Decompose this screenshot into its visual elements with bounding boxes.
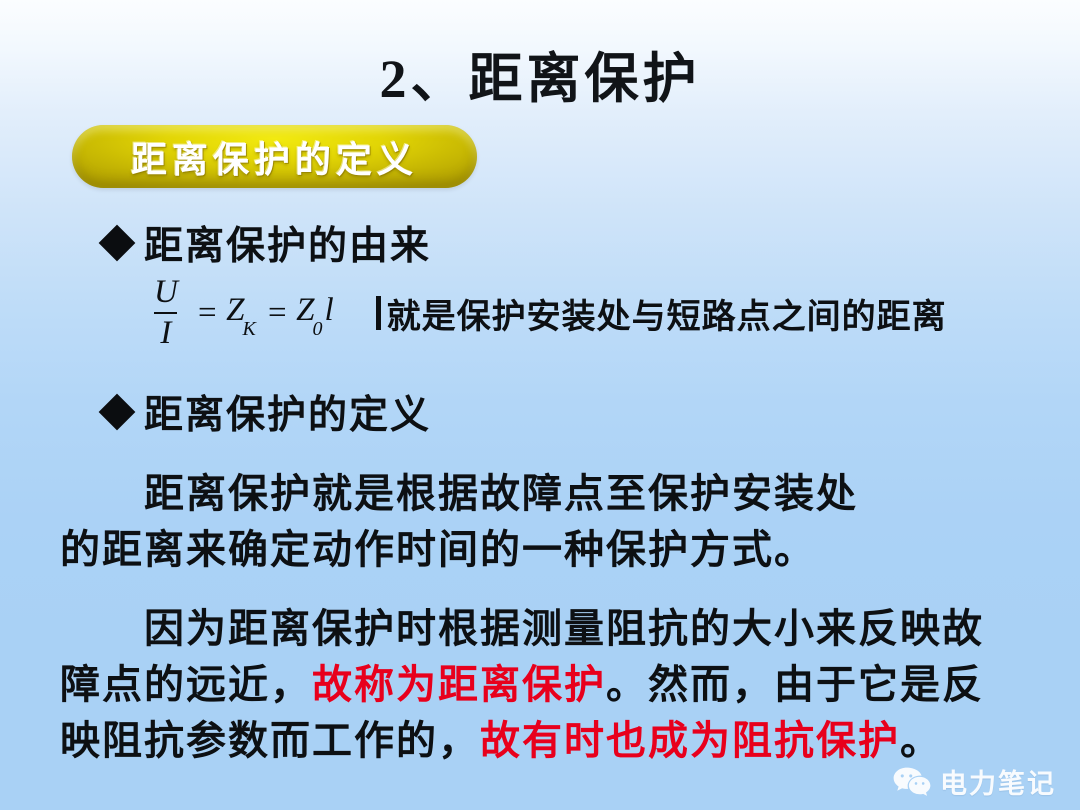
body-text: 。然而，由于它是反	[606, 663, 984, 707]
body-text: 映阻抗参数而工作的，	[60, 719, 480, 763]
body-text: 的距离来确定动作时间的一种保护方式。	[60, 528, 816, 572]
fraction-denominator: I	[154, 312, 177, 350]
watermark: 电力笔记	[892, 762, 1056, 801]
highlighted-text: 故有时也成为阻抗保护	[480, 719, 900, 763]
term-length-l: l	[324, 292, 333, 328]
body-text: 。	[900, 719, 942, 763]
bullet-heading-origin: 距离保护的由来	[104, 215, 431, 271]
formula-note-label: 就是保护安装处与短路点之间的距离	[387, 289, 947, 338]
body-text: 障点的远近，	[60, 663, 312, 707]
diamond-icon	[99, 394, 136, 431]
fraction-numerator: U	[148, 276, 184, 312]
term-z0l: Z0l	[296, 292, 334, 334]
bullet-heading-label: 距离保护的由来	[144, 215, 431, 271]
paragraph-line: 因为距离保护时根据测量阻抗的大小来反映故	[60, 601, 1040, 657]
section-badge: 距离保护的定义	[72, 125, 477, 188]
paragraph-line: 障点的远近，故称为距离保护。然而，由于它是反	[60, 657, 1040, 713]
watermark-label: 电力笔记	[940, 762, 1056, 801]
bullet-heading-label: 距离保护的定义	[144, 384, 431, 440]
body-text: 因为距离保护时根据测量阻抗的大小来反映故	[144, 607, 984, 651]
formula-row: U I = ZK = Z0l 就是保护安装处与短路点之间的距离	[148, 276, 947, 350]
vertical-bar-icon	[376, 296, 381, 330]
bullet-heading-definition: 距离保护的定义	[104, 384, 431, 440]
wechat-icon	[892, 765, 932, 799]
presentation-slide: 2、距离保护 距离保护的定义 距离保护的由来 U I = ZK = Z0l 就是…	[0, 0, 1080, 810]
fraction-u-over-i: U I	[148, 276, 184, 350]
paragraph-line: 映阻抗参数而工作的，故有时也成为阻抗保护。	[60, 713, 1040, 769]
impedance-formula: U I = ZK = Z0l	[148, 276, 334, 350]
paragraph-definition: 距离保护就是根据故障点至保护安装处的距离来确定动作时间的一种保护方式。	[60, 466, 1040, 578]
formula-note: 就是保护安装处与短路点之间的距离	[376, 289, 947, 338]
section-badge-label: 距离保护的定义	[131, 131, 418, 183]
term-zk-subscript: K	[242, 318, 255, 340]
term-zk: ZK	[226, 292, 258, 334]
page-title: 2、距离保护	[0, 34, 1080, 113]
paragraph-reason: 因为距离保护时根据测量阻抗的大小来反映故障点的远近，故称为距离保护。然而，由于它…	[60, 601, 1040, 769]
highlighted-text: 故称为距离保护	[312, 663, 606, 707]
equals-sign-1: =	[196, 295, 218, 332]
paragraph-line: 距离保护就是根据故障点至保护安装处	[60, 466, 1040, 522]
diamond-icon	[99, 225, 136, 262]
equals-sign-2: =	[266, 295, 288, 332]
term-z0-subscript: 0	[312, 318, 322, 340]
body-text: 距离保护就是根据故障点至保护安装处	[144, 472, 858, 516]
paragraph-line: 的距离来确定动作时间的一种保护方式。	[60, 522, 1040, 578]
